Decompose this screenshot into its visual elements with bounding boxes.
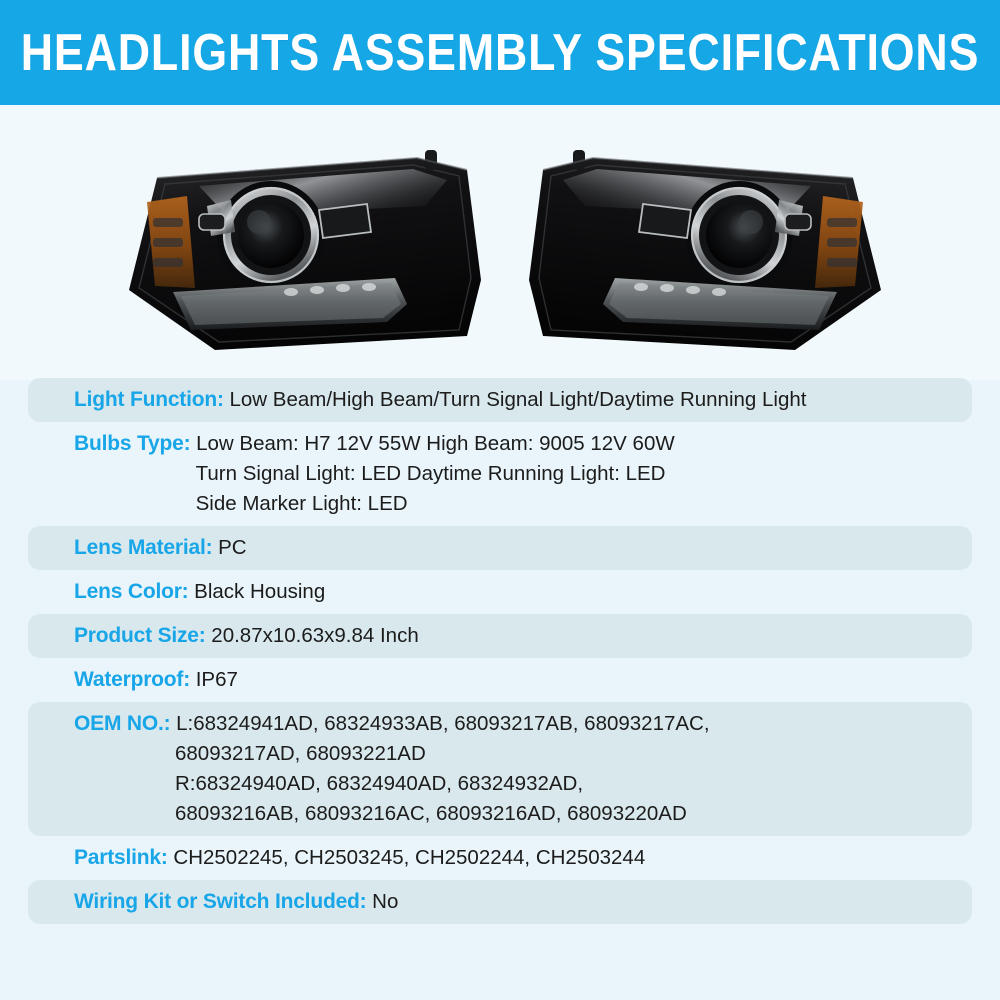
spec-value: 68093216AB, 68093216AC, 68093216AD, 6809… [175, 802, 687, 825]
specifications-list: Light Function: Low Beam/High Beam/Turn … [0, 378, 1000, 924]
spec-row-oem-no: OEM NO.: L:68324941AD, 68324933AB, 68093… [28, 702, 972, 836]
spec-line-primary: Bulbs Type: Low Beam: H7 12V 55W High Be… [28, 429, 972, 459]
spec-value: IP67 [190, 668, 238, 691]
spec-line-continuation: Side Marker Light: LED [28, 489, 972, 519]
spec-line-primary: Lens Color: Black Housing [28, 577, 972, 607]
spec-label: Wiring Kit or Switch Included: [74, 890, 366, 913]
spec-value: 68093217AD, 68093221AD [175, 742, 426, 765]
spec-value: 20.87x10.63x9.84 Inch [206, 624, 419, 647]
spec-row-lens-color: Lens Color: Black Housing [28, 570, 972, 614]
spec-line-continuation: Turn Signal Light: LED Daytime Running L… [28, 459, 972, 489]
spec-line-primary: Lens Material: PC [28, 533, 972, 563]
spec-line-primary: Light Function: Low Beam/High Beam/Turn … [28, 385, 972, 415]
spec-value: CH2502245, CH2503245, CH2502244, CH25032… [168, 846, 646, 869]
right-headlight-assembly [515, 140, 915, 365]
spec-row-lens-material: Lens Material: PC [28, 526, 972, 570]
spec-label: Light Function: [74, 388, 224, 411]
spec-label: Lens Color: [74, 580, 188, 603]
spec-value: PC [212, 536, 246, 559]
spec-value: L:68324941AD, 68324933AB, 68093217AB, 68… [170, 712, 709, 735]
spec-line-primary: Product Size: 20.87x10.63x9.84 Inch [28, 621, 972, 651]
spec-label: OEM NO.: [74, 712, 170, 735]
spec-row-waterproof: Waterproof: IP67 [28, 658, 972, 702]
spec-value: Black Housing [188, 580, 325, 603]
spec-label: Lens Material: [74, 536, 212, 559]
spec-value: Turn Signal Light: LED Daytime Running L… [196, 462, 666, 485]
spec-label: Partslink: [74, 846, 168, 869]
page-title: HEADLIGHTS ASSEMBLY SPECIFICATIONS [70, 0, 930, 105]
spec-line-primary: Partslink: CH2502245, CH2503245, CH25022… [28, 843, 972, 873]
spec-row-bulbs-type: Bulbs Type: Low Beam: H7 12V 55W High Be… [28, 422, 972, 526]
spec-row-partslink: Partslink: CH2502245, CH2503245, CH25022… [28, 836, 972, 880]
spec-line-continuation: 68093217AD, 68093221AD [28, 739, 972, 769]
spec-line-primary: Waterproof: IP67 [28, 665, 972, 695]
spec-line-continuation: R:68324940AD, 68324940AD, 68324932AD, [28, 769, 972, 799]
spec-sheet-page: HEADLIGHTS ASSEMBLY SPECIFICATIONS [0, 0, 1000, 1000]
spec-line-primary: OEM NO.: L:68324941AD, 68324933AB, 68093… [28, 709, 972, 739]
spec-value: No [366, 890, 398, 913]
header-banner: HEADLIGHTS ASSEMBLY SPECIFICATIONS [0, 0, 1000, 105]
spec-row-light-function: Light Function: Low Beam/High Beam/Turn … [28, 378, 972, 422]
spec-label: Product Size: [74, 624, 206, 647]
spec-value: Low Beam/High Beam/Turn Signal Light/Day… [224, 388, 807, 411]
spec-line-primary: Wiring Kit or Switch Included: No [28, 887, 972, 917]
spec-value: R:68324940AD, 68324940AD, 68324932AD, [175, 772, 583, 795]
spec-row-product-size: Product Size: 20.87x10.63x9.84 Inch [28, 614, 972, 658]
product-photo [95, 140, 915, 370]
spec-row-wiring-kit-or-switch-included: Wiring Kit or Switch Included: No [28, 880, 972, 924]
spec-label: Waterproof: [74, 668, 190, 691]
left-headlight-assembly [95, 140, 495, 365]
spec-value: Side Marker Light: LED [196, 492, 408, 515]
spec-value: Low Beam: H7 12V 55W High Beam: 9005 12V… [190, 432, 674, 455]
spec-line-continuation: 68093216AB, 68093216AC, 68093216AD, 6809… [28, 799, 972, 829]
spec-label: Bulbs Type: [74, 432, 190, 455]
